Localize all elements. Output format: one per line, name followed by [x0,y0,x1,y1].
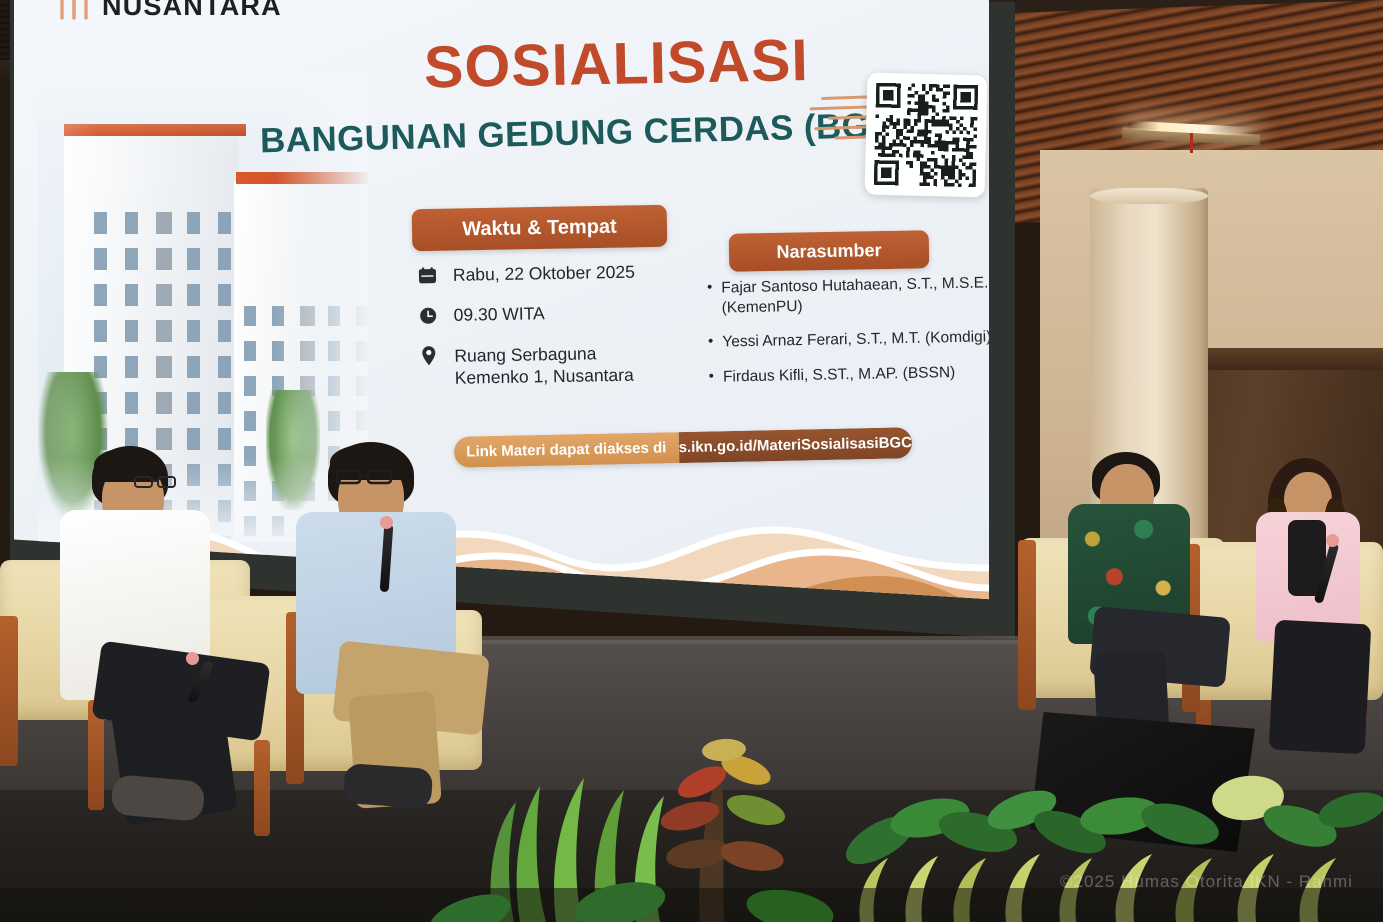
list-item: • Firdaus Kifli, S.ST., M.AP. (BSSN) [709,362,989,387]
narasumber-name: Yessi Arnaz Ferari, S.T., M.T. (Komdigi) [722,328,989,353]
narasumber-list: • Fajar Santoso Hutahaean, S.T., M.S.E. … [707,273,989,402]
materi-link-bar[interactable]: Link Materi dapat diakses di s.ikn.go.id… [454,427,913,468]
bullet-icon: • [709,368,715,388]
info-row-date: Rabu, 22 Oktober 2025 [417,260,697,287]
list-item: • Fajar Santoso Hutahaean, S.T., M.S.E. … [707,273,989,318]
info-row-time: 09.30 WITA [417,300,697,327]
calendar-icon [417,264,437,286]
qr-code[interactable] [865,73,988,198]
slide-title: SOSIALISASI [423,27,784,102]
location-pin-icon [418,345,438,367]
logo-line-2: NUSANTARA [102,0,282,20]
narasumber-name: Fajar Santoso Hutahaean, S.T., M.S.E. (K… [721,273,989,318]
clock-icon [417,304,437,326]
info-time-text: 09.30 WITA [453,303,544,327]
eyeglasses-icon [134,474,178,490]
photo-watermark: ©2025 Humas Otorita IKN - Rahmi [1060,872,1353,892]
materi-link-url[interactable]: s.ikn.go.id/MateriSosialisasiBGC [678,427,912,463]
bullet-icon: • [707,279,713,318]
list-item: • Yessi Arnaz Ferari, S.T., M.T. (Komdig… [708,328,989,353]
ceiling-light-stem [1190,133,1193,153]
info-row-location: Ruang Serbaguna Kemenko 1, Nusantara [418,340,699,390]
bullet-icon: • [708,333,714,353]
foreground-leaves [424,875,836,922]
column-cap [1090,188,1208,204]
info-location-text: Ruang Serbaguna Kemenko 1, Nusantara [454,341,634,389]
ikn-logo: Kota Negara NUSANTARA [54,0,282,20]
info-date-text: Rabu, 22 Oktober 2025 [453,261,635,287]
sofa-right1-arm-wood [1018,540,1036,710]
narasumber-name: Firdaus Kifli, S.ST., M.AP. (BSSN) [723,363,956,387]
event-photo-scene: Kota Negara NUSANTARA SOSIALISASI BANGUN… [0,0,1383,922]
ikn-tree-mark-icon [54,0,94,20]
materi-link-label: Link Materi dapat diakses di [454,432,679,468]
eyeglasses-icon [336,468,394,486]
waktu-tempat-list: Rabu, 22 Oktober 2025 09.30 WITA Ruang S… [417,260,699,408]
broadleaf-plant [839,772,1383,873]
waktu-tempat-badge: Waktu & Tempat [412,205,668,251]
qr-code-image [874,82,979,188]
narasumber-badge: Narasumber [729,230,930,271]
